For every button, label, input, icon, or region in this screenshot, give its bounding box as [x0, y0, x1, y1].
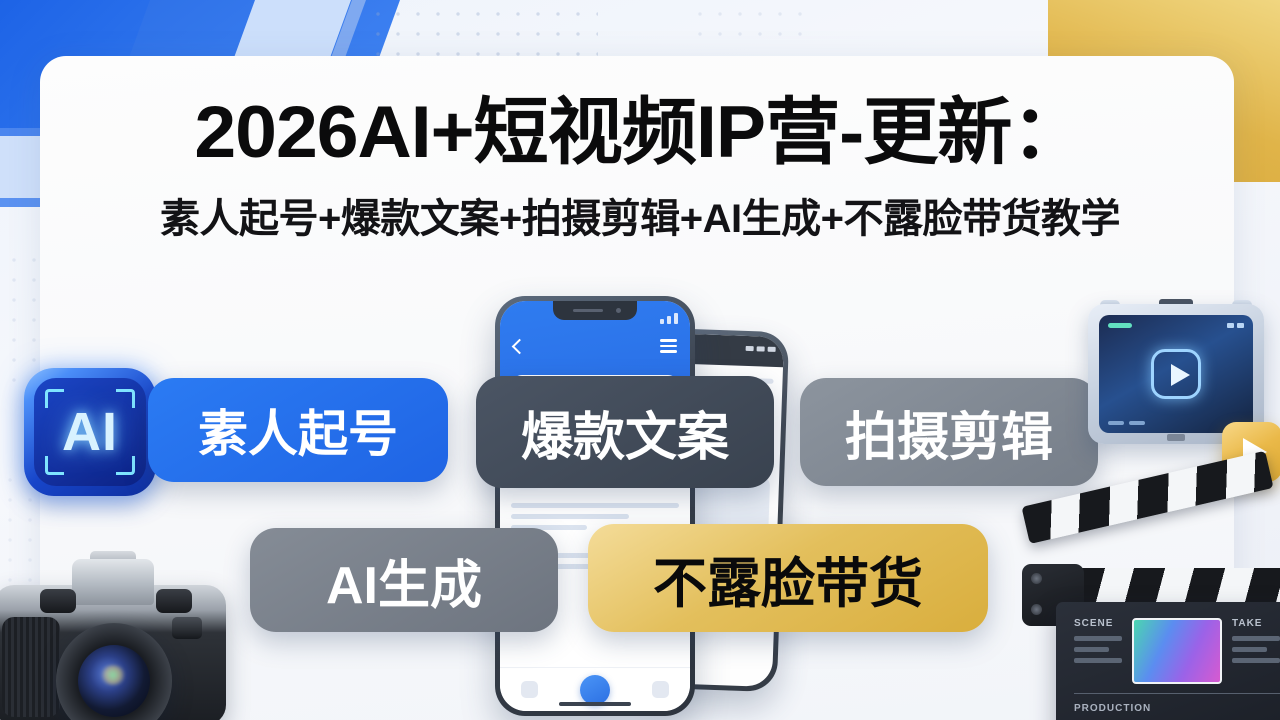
feature-pill-su-ren-qi-hao[interactable]: 素人起号: [148, 378, 448, 482]
phone-notch: [553, 301, 637, 320]
lens-flare: [100, 665, 126, 685]
play-icon: [1151, 349, 1201, 399]
clapper-scene-label: SCENE: [1074, 618, 1122, 629]
dot-grid-top: [368, 4, 598, 62]
clapper-divider: [1074, 693, 1280, 694]
signal-icon: [660, 313, 678, 324]
headline-group: 2026AI+短视频IP营-更新： 素人起号+爆款文案+拍摄剪辑+AI生成+不露…: [0, 96, 1280, 244]
front-camera-dot: [616, 308, 621, 313]
page-subtitle: 素人起号+爆款文案+拍摄剪辑+AI生成+不露脸带货教学: [0, 186, 1280, 244]
scanner-corner-tr-icon: [116, 389, 135, 408]
clapper-board-face: SCENE TAKE PRODUCTION: [1056, 602, 1280, 720]
feature-pill-bu-lu-lian-dai-huo[interactable]: 不露脸带货: [588, 524, 988, 632]
ai-badge-icon: AI: [24, 368, 156, 496]
dslr-camera-image: [0, 545, 230, 720]
camera-sensor-window: [172, 617, 202, 639]
back-arrow-icon[interactable]: [512, 339, 528, 355]
camera-grip: [2, 617, 60, 717]
scanner-corner-br-icon: [116, 456, 135, 475]
scanner-corner-bl-icon: [45, 456, 64, 475]
monitor-foot: [1167, 434, 1185, 441]
feature-pill-ai-sheng-cheng[interactable]: AI生成: [250, 528, 558, 632]
record-indicator-icon: [1108, 323, 1132, 328]
clapper-scene-column: SCENE: [1074, 618, 1122, 669]
phone-front-screen: [500, 301, 690, 711]
clapper-take-column: TAKE: [1232, 618, 1280, 669]
camera-prism: [72, 559, 154, 605]
nav-icon-record[interactable]: [580, 675, 610, 705]
clapper-fields: SCENE TAKE: [1074, 618, 1280, 684]
page-title: 2026AI+短视频IP营-更新：: [0, 96, 1280, 170]
camera-dial-left: [40, 589, 76, 613]
clapper-take-label: TAKE: [1232, 618, 1280, 629]
ai-badge-inner: AI: [34, 378, 146, 486]
feature-pill-bao-kuan-wen-an[interactable]: 爆款文案: [476, 376, 774, 488]
clapper-production-label: PRODUCTION: [1074, 703, 1280, 714]
monitor-screen: [1099, 315, 1253, 433]
poster-canvas: 2026AI+短视频IP营-更新： 素人起号+爆款文案+拍摄剪辑+AI生成+不露…: [0, 0, 1280, 720]
monitor-readout: [1108, 421, 1145, 425]
scanner-corner-tl-icon: [45, 389, 64, 408]
dot-grid-top-right: [690, 4, 810, 44]
speaker-grill: [573, 309, 603, 312]
clapperboard-image: SCENE TAKE PRODUCTION: [1012, 506, 1280, 720]
ai-badge-label: AI: [62, 401, 118, 463]
nav-icon-home[interactable]: [521, 681, 538, 698]
hamburger-menu-icon[interactable]: [660, 339, 677, 352]
battery-icon: [1227, 323, 1244, 328]
phone-back-status-icons: [746, 346, 776, 352]
home-indicator: [559, 702, 631, 706]
phone-mockup-front: [495, 296, 695, 716]
camera-dial-right: [156, 589, 192, 613]
camera-lens-glass: [78, 645, 150, 717]
nav-icon-profile[interactable]: [652, 681, 669, 698]
clapper-color-chart: [1132, 618, 1222, 684]
feature-pill-pai-she-jian-ji[interactable]: 拍摄剪辑: [800, 378, 1098, 486]
clapper-top-stripes: [1074, 568, 1280, 604]
